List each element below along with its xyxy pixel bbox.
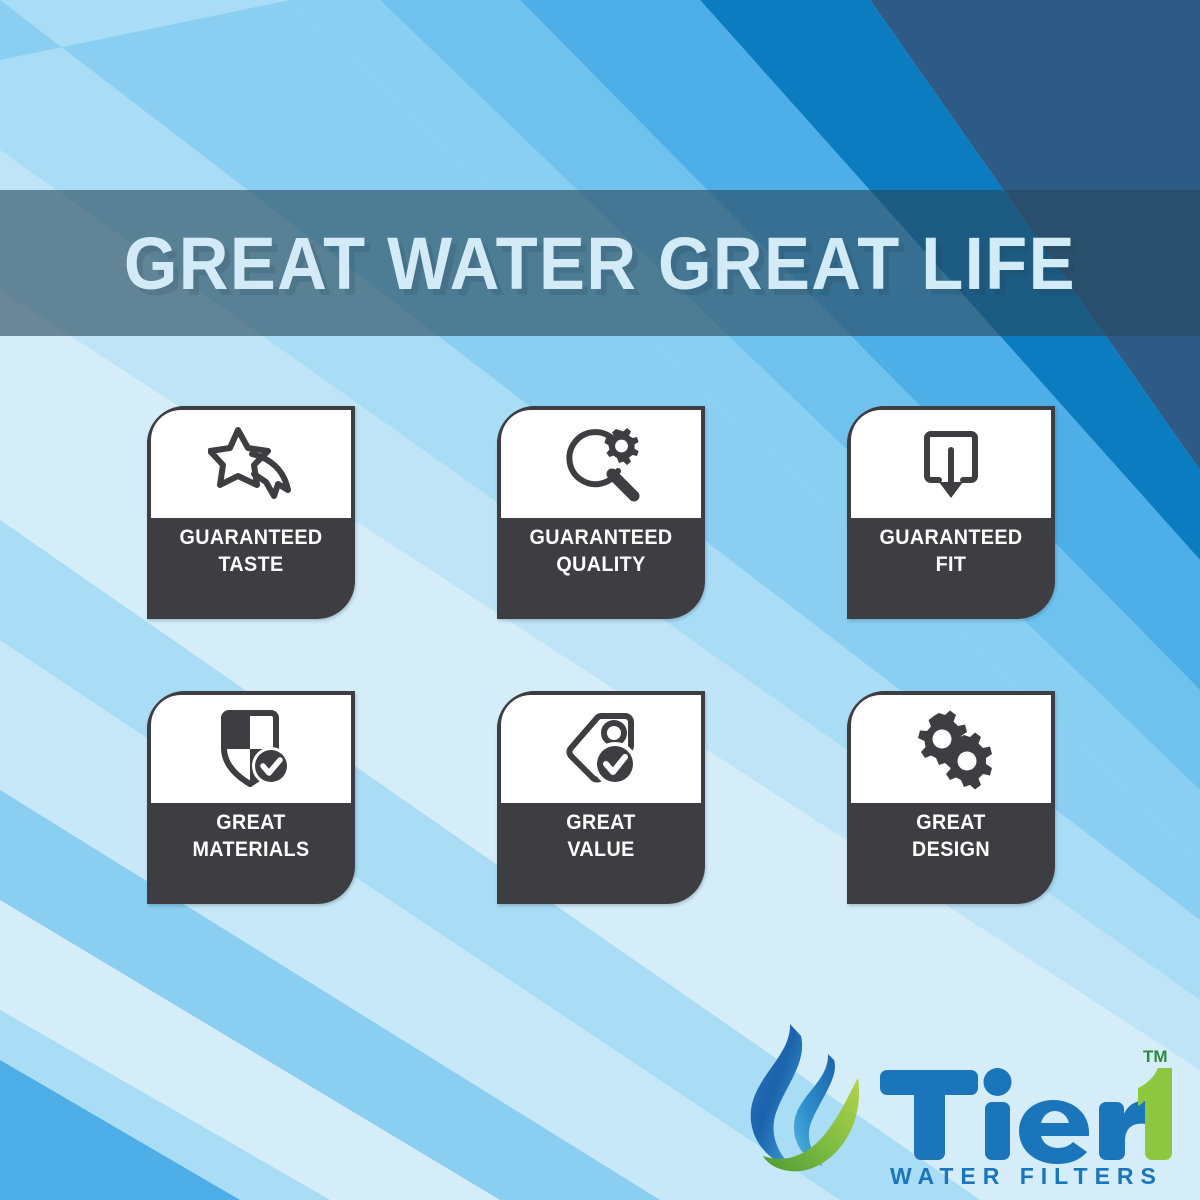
card-label: GUARANTEED TASTE bbox=[153, 524, 349, 578]
card-label-line1: GUARANTEED bbox=[853, 524, 1049, 551]
card-label: GREAT DESIGN bbox=[853, 809, 1049, 863]
page-title: GREAT WATER GREAT LIFE bbox=[124, 221, 1076, 306]
feature-card-great-value[interactable]: GREAT VALUE bbox=[497, 691, 705, 904]
brand-logo[interactable]: TM WATER FILTERS bbox=[735, 1018, 1175, 1190]
feature-card-great-design[interactable]: GREAT DESIGN bbox=[847, 691, 1055, 904]
card-label: GREAT VALUE bbox=[503, 809, 699, 863]
two-gears-icon bbox=[907, 709, 995, 789]
headline-banner: GREAT WATER GREAT LIFE bbox=[0, 190, 1200, 336]
card-icon-area bbox=[847, 691, 1055, 803]
card-icon-area bbox=[847, 406, 1055, 518]
card-icon-area bbox=[497, 691, 705, 803]
logo-trademark: TM bbox=[1143, 1047, 1168, 1066]
water-drop-leaf-icon bbox=[751, 1024, 859, 1171]
card-label-line2: VALUE bbox=[503, 836, 699, 863]
logo-tagline: WATER FILTERS bbox=[890, 1163, 1163, 1189]
card-icon-area bbox=[147, 691, 355, 803]
card-icon-area bbox=[147, 406, 355, 518]
card-label: GREAT MATERIALS bbox=[153, 809, 349, 863]
card-label-line2: DESIGN bbox=[853, 836, 1049, 863]
shooting-star-icon bbox=[208, 424, 294, 504]
shield-check-icon bbox=[208, 708, 294, 790]
card-label: GUARANTEED QUALITY bbox=[503, 524, 699, 578]
card-label: GUARANTEED FIT bbox=[853, 524, 1049, 578]
magnifier-gear-icon bbox=[558, 424, 644, 504]
price-tag-check-icon bbox=[557, 708, 645, 790]
card-label-line1: GREAT bbox=[503, 809, 699, 836]
card-label-line2: FIT bbox=[853, 551, 1049, 578]
logo-wordmark bbox=[880, 1068, 1146, 1164]
card-label-line1: GUARANTEED bbox=[153, 524, 349, 551]
card-label-line2: TASTE bbox=[153, 551, 349, 578]
feature-card-guaranteed-taste[interactable]: GUARANTEED TASTE bbox=[147, 406, 355, 619]
feature-card-great-materials[interactable]: GREAT MATERIALS bbox=[147, 691, 355, 904]
card-label-line1: GREAT bbox=[153, 809, 349, 836]
card-label-line2: QUALITY bbox=[503, 551, 699, 578]
card-icon-area bbox=[497, 406, 705, 518]
insert-down-arrow-icon bbox=[911, 424, 991, 504]
card-label-line1: GUARANTEED bbox=[503, 524, 699, 551]
promo-graphic: GREAT WATER GREAT LIFE GUARANTEED TASTE bbox=[0, 0, 1200, 1200]
feature-card-guaranteed-fit[interactable]: GUARANTEED FIT bbox=[847, 406, 1055, 619]
feature-card-guaranteed-quality[interactable]: GUARANTEED QUALITY bbox=[497, 406, 705, 619]
card-label-line1: GREAT bbox=[853, 809, 1049, 836]
card-label-line2: MATERIALS bbox=[153, 836, 349, 863]
